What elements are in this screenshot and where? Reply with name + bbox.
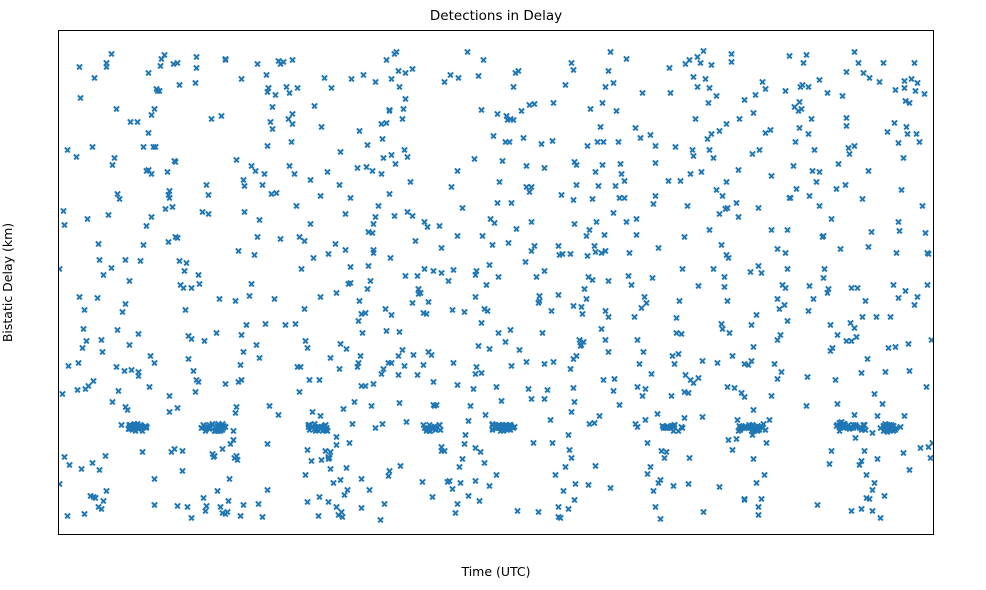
scatter-point (320, 424, 327, 431)
scatter-point (634, 423, 641, 430)
scatter-point (382, 305, 389, 312)
scatter-point (234, 456, 241, 463)
scatter-point (486, 345, 493, 352)
scatter-point (285, 115, 292, 122)
scatter-point (814, 501, 821, 508)
scatter-point (203, 502, 210, 509)
scatter-point (325, 453, 332, 460)
scatter-point (489, 425, 496, 432)
scatter-point (893, 249, 900, 256)
scatter-point (601, 231, 608, 238)
scatter-point (347, 263, 354, 270)
scatter-point (925, 443, 932, 450)
scatter-point (560, 487, 567, 494)
scatter-point (741, 96, 748, 103)
scatter-point (908, 75, 915, 82)
scatter-point (314, 423, 321, 430)
scatter-point (332, 240, 339, 247)
scatter-point (325, 455, 332, 462)
scatter-point (135, 425, 142, 432)
scatter-point (699, 357, 706, 364)
scatter-point (432, 424, 439, 431)
scatter-point (639, 89, 646, 96)
scatter-point (445, 277, 452, 284)
scatter-point (917, 444, 924, 451)
scatter-point (738, 423, 745, 430)
scatter-point (502, 421, 509, 428)
scatter-point (655, 479, 662, 486)
scatter-point (487, 215, 494, 222)
scatter-point (741, 424, 748, 431)
scatter-point (108, 50, 115, 57)
scatter-point (611, 375, 618, 382)
scatter-point (761, 471, 768, 478)
scatter-point (449, 306, 456, 313)
scatter-point (60, 207, 67, 214)
scatter-point (354, 164, 361, 171)
scatter-point (476, 497, 483, 504)
scatter-point (427, 427, 434, 434)
scatter-point (638, 304, 645, 311)
scatter-point (402, 272, 409, 279)
scatter-point (671, 421, 678, 428)
scatter-point (836, 427, 843, 434)
scatter-point (585, 273, 592, 280)
scatter-point (837, 245, 844, 252)
scatter-point (81, 510, 88, 517)
scatter-point (486, 261, 493, 268)
scatter-point (863, 494, 870, 501)
scatter-point (599, 161, 606, 168)
scatter-point (360, 71, 367, 78)
scatter-point (59, 390, 66, 397)
scatter-point (673, 314, 680, 321)
scatter-point (137, 421, 144, 428)
scatter-point (568, 59, 575, 66)
scatter-point (255, 500, 262, 507)
scatter-point (500, 427, 507, 434)
scatter-point (621, 194, 628, 201)
scatter-point (121, 367, 128, 374)
scatter-point (393, 48, 400, 55)
scatter-point (506, 138, 513, 145)
scatter-point (626, 249, 633, 256)
scatter-point (853, 423, 860, 430)
scatter-point (202, 427, 209, 434)
scatter-point (333, 503, 340, 510)
scatter-point (306, 423, 313, 430)
scatter-point (570, 384, 577, 391)
scatter-point (81, 306, 88, 313)
scatter-point (855, 59, 862, 66)
scatter-point (687, 170, 694, 177)
scatter-point (782, 284, 789, 291)
scatter-point (577, 342, 584, 349)
scatter-point (95, 240, 102, 247)
scatter-point (310, 254, 317, 261)
scatter-point (898, 186, 905, 193)
scatter-point (74, 386, 81, 393)
scatter-point (675, 350, 682, 357)
scatter-point (201, 423, 208, 430)
scatter-point (143, 424, 150, 431)
scatter-point (132, 427, 139, 434)
scatter-point (399, 346, 406, 353)
scatter-point (555, 503, 562, 510)
scatter-point (192, 79, 199, 86)
scatter-point (661, 454, 668, 461)
scatter-point (347, 279, 354, 286)
scatter-point (596, 412, 603, 419)
scatter-point (387, 254, 394, 261)
scatter-point (848, 337, 855, 344)
scatter-point (184, 503, 191, 510)
scatter-point (271, 295, 278, 302)
scatter-point (723, 251, 730, 258)
scatter-point (275, 411, 282, 418)
scatter-point (738, 389, 745, 396)
scatter-point (713, 186, 720, 193)
scatter-point (219, 420, 226, 427)
scatter-point (877, 514, 884, 521)
scatter-point (322, 426, 329, 433)
scatter-point (750, 406, 757, 413)
scatter-point (605, 277, 612, 284)
x-tick-mark (133, 534, 134, 535)
scatter-point (689, 146, 696, 153)
scatter-point (632, 420, 639, 427)
scatter-point (718, 320, 725, 327)
scatter-point (642, 416, 649, 423)
scatter-point (169, 203, 176, 210)
scatter-point (621, 177, 628, 184)
x-tick-mark (608, 534, 609, 535)
scatter-point (349, 420, 356, 427)
scatter-point (671, 421, 678, 428)
scatter-point (456, 463, 463, 470)
scatter-point (796, 98, 803, 105)
scatter-point (277, 60, 284, 67)
scatter-point (91, 74, 98, 81)
scatter-point (316, 493, 323, 500)
scatter-point (148, 213, 155, 220)
scatter-point (421, 424, 428, 431)
scatter-point (758, 269, 765, 276)
scatter-point (83, 337, 90, 344)
scatter-point (874, 412, 881, 419)
scatter-point (861, 447, 868, 454)
scatter-point (495, 421, 502, 428)
scatter-point (115, 387, 122, 394)
scatter-point (735, 166, 742, 173)
scatter-point (547, 416, 554, 423)
scatter-point (826, 460, 833, 467)
scatter-point (571, 496, 578, 503)
scatter-point (171, 445, 178, 452)
scatter-point (134, 422, 141, 429)
scatter-point (883, 427, 890, 434)
scatter-point (145, 166, 152, 173)
scatter-point (166, 392, 173, 399)
scatter-point (828, 447, 835, 454)
scatter-point (321, 74, 328, 81)
scatter-point (452, 509, 459, 516)
scatter-point (536, 292, 543, 299)
scatter-point (209, 420, 216, 427)
scatter-point (901, 77, 908, 84)
scatter-point (602, 247, 609, 254)
scatter-point (682, 371, 689, 378)
scatter-point (164, 168, 171, 175)
scatter-point (396, 328, 403, 335)
scatter-point (129, 426, 136, 433)
scatter-point (834, 421, 841, 428)
scatter-point (654, 410, 661, 417)
scatter-point (275, 57, 282, 64)
scatter-point (447, 71, 454, 78)
scatter-point (217, 503, 224, 510)
scatter-point (839, 92, 846, 99)
scatter-point (193, 53, 200, 60)
scatter-point (860, 424, 867, 431)
scatter-point (348, 75, 355, 82)
scatter-point (140, 241, 147, 248)
scatter-point (232, 409, 239, 416)
scatter-point (906, 466, 913, 473)
scatter-point (518, 107, 525, 114)
scatter-point (425, 348, 432, 355)
scatter-point (272, 91, 279, 98)
scatter-point (756, 146, 763, 153)
scatter-point (741, 360, 748, 367)
scatter-point (137, 422, 144, 429)
scatter-point (289, 120, 296, 127)
scatter-point (366, 486, 373, 493)
scatter-point (751, 427, 758, 434)
scatter-point (741, 495, 748, 502)
scatter-point (323, 426, 330, 433)
scatter-point (363, 163, 370, 170)
scatter-point (202, 507, 209, 514)
scatter-point (520, 134, 527, 141)
scatter-point (238, 376, 245, 383)
scatter-point (858, 424, 865, 431)
scatter-point (162, 205, 169, 212)
scatter-point (565, 505, 572, 512)
scatter-point (657, 476, 664, 483)
scatter-point (210, 453, 217, 460)
scatter-point (127, 421, 134, 428)
scatter-point (882, 423, 889, 430)
scatter-point (558, 191, 565, 198)
scatter-point (414, 371, 421, 378)
scatter-point (61, 453, 68, 460)
scatter-point (530, 439, 537, 446)
scatter-point (399, 115, 406, 122)
scatter-point (544, 386, 551, 393)
scatter-point (441, 78, 448, 85)
scatter-point (315, 423, 322, 430)
scatter-point (141, 423, 148, 430)
scatter-point (882, 368, 889, 375)
scatter-point (860, 69, 867, 76)
scatter-point (797, 83, 804, 90)
scatter-point (679, 424, 686, 431)
scatter-point (599, 99, 606, 106)
scatter-point (145, 69, 152, 76)
scatter-point (890, 281, 897, 288)
scatter-point (687, 376, 694, 383)
scatter-point (324, 168, 331, 175)
scatter-point (396, 399, 403, 406)
scatter-point (535, 299, 542, 306)
scatter-point (346, 439, 353, 446)
scatter-point (550, 358, 557, 365)
scatter-point (170, 60, 177, 67)
scatter-point (742, 422, 749, 429)
scatter-point (514, 507, 521, 514)
scatter-point (906, 367, 913, 374)
scatter-point (858, 505, 865, 512)
scatter-point (733, 199, 740, 206)
scatter-point (171, 157, 178, 164)
scatter-point (664, 422, 671, 429)
scatter-point (297, 363, 304, 370)
scatter-point (799, 81, 806, 88)
scatter-point (100, 271, 107, 278)
scatter-point (605, 67, 612, 74)
scatter-point (378, 120, 385, 127)
scatter-point (705, 99, 712, 106)
scatter-point (508, 423, 515, 430)
scatter-point (836, 422, 843, 429)
scatter-point (438, 443, 445, 450)
scatter-point (739, 424, 746, 431)
scatter-point (140, 143, 147, 150)
scatter-point (584, 142, 591, 149)
scatter-point (504, 116, 511, 123)
scatter-point (383, 327, 390, 334)
scatter-point (886, 421, 893, 428)
scatter-point (114, 326, 121, 333)
scatter-point (616, 401, 623, 408)
scatter-point (273, 189, 280, 196)
scatter-point (264, 486, 271, 493)
scatter-point (748, 357, 755, 364)
scatter-point (358, 475, 365, 482)
scatter-point (478, 369, 485, 376)
scatter-point (472, 370, 479, 377)
scatter-point (882, 420, 889, 427)
scatter-point (351, 398, 358, 405)
scatter-point (367, 277, 374, 284)
scatter-point (786, 194, 793, 201)
scatter-point (710, 265, 717, 272)
scatter-point (256, 216, 263, 223)
scatter-point (571, 398, 578, 405)
scatter-point (266, 402, 273, 409)
scatter-point (923, 383, 930, 390)
scatter-point (380, 365, 387, 372)
scatter-point (866, 74, 873, 81)
scatter-point (856, 424, 863, 431)
scatter-point (724, 297, 731, 304)
scatter-point (623, 218, 630, 225)
scatter-point (706, 226, 713, 233)
scatter-point (805, 307, 812, 314)
scatter-point (190, 367, 197, 374)
scatter-point (128, 366, 135, 373)
y-tick-mark (58, 522, 59, 523)
scatter-point (292, 320, 299, 327)
scatter-point (647, 131, 654, 138)
scatter-point (109, 161, 116, 168)
scatter-point (610, 387, 617, 394)
scatter-point (372, 213, 379, 220)
scatter-point (449, 485, 456, 492)
scatter-point (478, 319, 485, 326)
scatter-point (425, 298, 432, 305)
scatter-point (805, 130, 812, 137)
scatter-point (461, 308, 468, 315)
scatter-point (644, 470, 651, 477)
scatter-point (135, 330, 142, 337)
scatter-point (762, 426, 769, 433)
scatter-point (311, 425, 318, 432)
scatter-point (541, 267, 548, 274)
scatter-point (586, 420, 593, 427)
scatter-point (401, 362, 408, 369)
scatter-point (61, 221, 68, 228)
scatter-point (268, 190, 275, 197)
scatter-point (484, 307, 491, 314)
scatter-point (139, 427, 146, 434)
scatter-point (478, 106, 485, 113)
scatter-point (706, 146, 713, 153)
scatter-point (731, 384, 738, 391)
scatter-point (592, 462, 599, 469)
scatter-point (746, 421, 753, 428)
scatter-point (147, 352, 154, 359)
scatter-point (90, 377, 97, 384)
scatter-point (848, 424, 855, 431)
scatter-point (827, 321, 834, 328)
scatter-point (145, 129, 152, 136)
scatter-point (616, 194, 623, 201)
scatter-point (600, 138, 607, 145)
scatter-point (848, 507, 855, 514)
scatter-point (141, 423, 148, 430)
scatter-point (441, 447, 448, 454)
scatter-point (211, 427, 218, 434)
scatter-point (734, 416, 741, 423)
scatter-point (132, 422, 139, 429)
scatter-point (446, 477, 453, 484)
scatter-point (429, 493, 436, 500)
scatter-point (591, 242, 598, 249)
scatter-point (901, 84, 908, 91)
scatter-point (847, 319, 854, 326)
scatter-point (90, 493, 97, 500)
scatter-point (58, 480, 63, 487)
scatter-point (317, 412, 324, 419)
scatter-point (286, 162, 293, 169)
x-tick-mark (925, 534, 926, 535)
scatter-point (502, 138, 509, 145)
scatter-point (690, 379, 697, 386)
scatter-point (383, 56, 390, 63)
scatter-point (884, 422, 891, 429)
